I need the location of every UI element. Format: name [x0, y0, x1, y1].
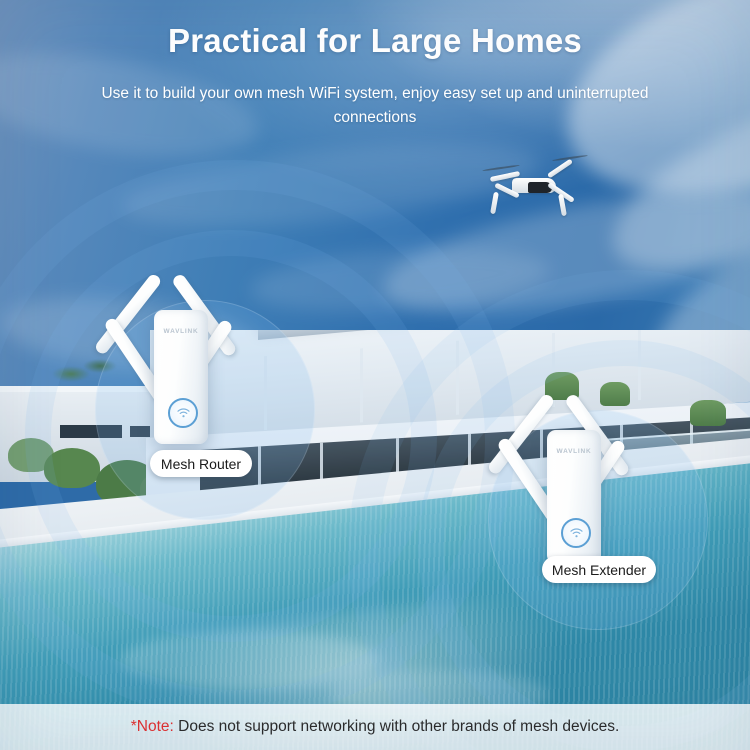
page-subtitle: Use it to build your own mesh WiFi syste…	[75, 82, 675, 130]
page-title: Practical for Large Homes	[0, 22, 750, 60]
mesh-router-device[interactable]: WAVLINK	[96, 254, 316, 464]
wavlink-logo: WAVLINK	[154, 328, 208, 335]
product-feature-image: WAVLINK Mesh Router WAVLINK	[0, 0, 750, 750]
mesh-extender-device[interactable]: WAVLINK	[489, 374, 709, 584]
mesh-extender-label-text: Mesh Extender	[552, 562, 646, 578]
mesh-extender-label: Mesh Extender	[542, 556, 656, 583]
extender-body[interactable]: WAVLINK	[547, 430, 601, 564]
drone-icon	[488, 158, 584, 214]
note-prefix: *Note:	[131, 718, 174, 735]
footer-note-bar: *Note: Does not support networking with …	[0, 704, 750, 750]
mesh-router-label: Mesh Router	[150, 450, 252, 477]
drone-propeller	[482, 164, 520, 171]
drone-arm	[547, 159, 573, 179]
footer-note: *Note: Does not support networking with …	[131, 718, 620, 736]
wifi-icon	[168, 398, 198, 428]
wavlink-logo: WAVLINK	[547, 448, 601, 455]
router-body[interactable]: WAVLINK	[154, 310, 208, 444]
wifi-icon	[561, 518, 591, 548]
note-body: Does not support networking with other b…	[174, 718, 619, 735]
drone-leg	[490, 192, 499, 215]
mesh-router-label-text: Mesh Router	[161, 456, 241, 472]
